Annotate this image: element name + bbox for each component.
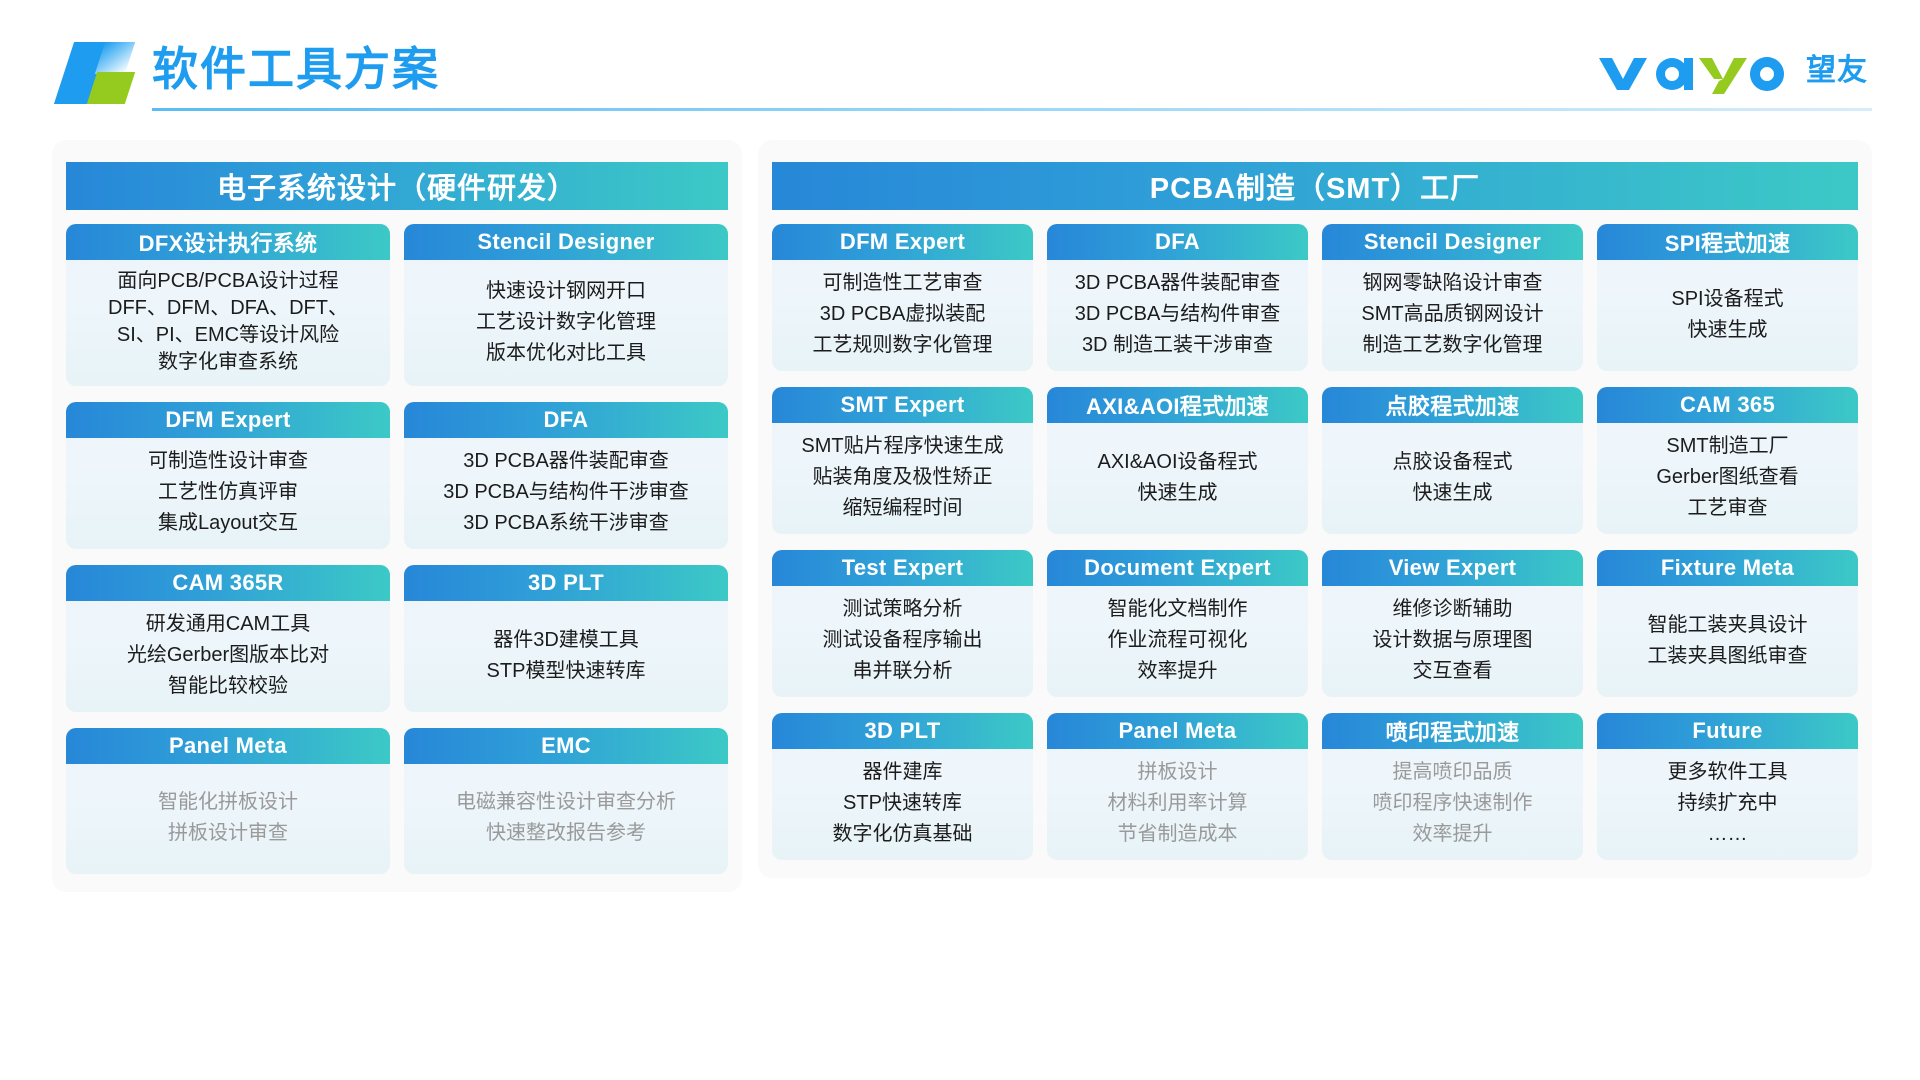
tool-card-feature-line: 贴装角度及极性矫正	[813, 462, 993, 493]
tool-card-feature-line: STP模型快速转库	[487, 656, 646, 687]
tool-card[interactable]: SMT ExpertSMT贴片程序快速生成贴装角度及极性矫正缩短编程时间	[772, 387, 1033, 534]
solution-board: 电子系统设计（硬件研发） DFX设计执行系统面向PCB/PCBA设计过程DFF、…	[0, 140, 1920, 1020]
tool-card-title: Panel Meta	[1119, 718, 1237, 744]
tool-card-feature-line: 制造工艺数字化管理	[1363, 330, 1543, 361]
tool-card-feature-line: 智能工装夹具设计	[1648, 610, 1808, 641]
tool-card-feature-line: 工艺设计数字化管理	[476, 307, 656, 338]
tool-card-feature-line: 更多软件工具	[1668, 757, 1788, 788]
tool-card-body: 面向PCB/PCBA设计过程DFF、DFM、DFA、DFT、SI、PI、EMC等…	[66, 260, 390, 386]
tool-card-feature-line: 设计数据与原理图	[1373, 625, 1533, 656]
tool-card-feature-line: 可制造性设计审查	[148, 446, 308, 477]
tool-card-body: 快速设计钢网开口工艺设计数字化管理版本优化对比工具	[404, 260, 728, 386]
tool-card-feature-line: 工装夹具图纸审查	[1648, 641, 1808, 672]
tool-card-title: DFA	[1155, 229, 1200, 255]
tool-card[interactable]: SPI程式加速SPI设备程式快速生成	[1597, 224, 1858, 371]
tool-card-title: 3D PLT	[865, 718, 941, 744]
tool-card-body: 3D PCBA器件装配审查3D PCBA与结构件审查3D 制造工装干涉审查	[1047, 260, 1308, 371]
tool-card-feature-line: 智能化文档制作	[1108, 594, 1248, 625]
tool-card-body: 提高喷印品质喷印程序快速制作效率提升	[1322, 749, 1583, 860]
tool-card-feature-line: 研发通用CAM工具	[146, 609, 310, 640]
tool-card[interactable]: EMC电磁兼容性设计审查分析快速整改报告参考	[404, 728, 728, 874]
tool-card[interactable]: CAM 365SMT制造工厂Gerber图纸查看工艺审查	[1597, 387, 1858, 534]
tool-card-feature-line: 材料利用率计算	[1108, 788, 1248, 819]
tool-card[interactable]: 3D PLT器件建库STP快速转库数字化仿真基础	[772, 713, 1033, 860]
tool-card-header: DFA	[1047, 224, 1308, 260]
tool-card-feature-line: 面向PCB/PCBA设计过程	[117, 268, 338, 295]
tool-card-header: CAM 365	[1597, 387, 1858, 423]
title-divider	[152, 108, 1872, 111]
tool-card-feature-line: 工艺审查	[1688, 493, 1768, 524]
tool-card-feature-line: 快速生成	[1688, 315, 1768, 346]
tool-card-title: 喷印程式加速	[1386, 715, 1520, 747]
tool-card-feature-line: 3D PCBA与结构件审查	[1075, 299, 1281, 330]
panel-electronic-system-design: 电子系统设计（硬件研发） DFX设计执行系统面向PCB/PCBA设计过程DFF、…	[52, 140, 742, 892]
tool-card-body: 可制造性工艺审查3D PCBA虚拟装配工艺规则数字化管理	[772, 260, 1033, 371]
tool-card-body: 点胶设备程式快速生成	[1322, 423, 1583, 534]
tool-card[interactable]: Test Expert测试策略分析测试设备程序输出串并联分析	[772, 550, 1033, 697]
tool-card-feature-line: 测试策略分析	[843, 594, 963, 625]
tool-card[interactable]: Document Expert智能化文档制作作业流程可视化效率提升	[1047, 550, 1308, 697]
tool-card-feature-line: 器件3D建模工具	[493, 625, 639, 656]
panel-right-card-grid: DFM Expert可制造性工艺审查3D PCBA虚拟装配工艺规则数字化管理DF…	[772, 224, 1858, 860]
tool-card[interactable]: Panel Meta拼板设计材料利用率计算节省制造成本	[1047, 713, 1308, 860]
tool-card-body: 测试策略分析测试设备程序输出串并联分析	[772, 586, 1033, 697]
tool-card-title: Test Expert	[842, 555, 964, 581]
tool-card-title: EMC	[541, 733, 591, 759]
tool-card-title: Panel Meta	[169, 733, 287, 759]
tool-card-header: Test Expert	[772, 550, 1033, 586]
vayo-slash-mark-icon	[58, 42, 136, 104]
tool-card-feature-line: 拼板设计审查	[168, 818, 288, 849]
tool-card-feature-line: SMT贴片程序快速生成	[801, 431, 1003, 462]
panel-pcba-smt-factory: PCBA制造（SMT）工厂 DFM Expert可制造性工艺审查3D PCBA虚…	[758, 140, 1872, 878]
tool-card-header: View Expert	[1322, 550, 1583, 586]
tool-card-title: DFM Expert	[165, 407, 290, 433]
tool-card-body: 器件3D建模工具STP模型快速转库	[404, 601, 728, 712]
tool-card[interactable]: DFX设计执行系统面向PCB/PCBA设计过程DFF、DFM、DFA、DFT、S…	[66, 224, 390, 386]
tool-card[interactable]: Future更多软件工具持续扩充中……	[1597, 713, 1858, 860]
tool-card-body: 器件建库STP快速转库数字化仿真基础	[772, 749, 1033, 860]
tool-card-feature-line: 智能比较校验	[168, 671, 288, 702]
tool-card-title: Future	[1692, 718, 1762, 744]
tool-card-feature-line: SMT高品质钢网设计	[1361, 299, 1543, 330]
tool-card-header: DFM Expert	[772, 224, 1033, 260]
tool-card-title: DFX设计执行系统	[139, 226, 318, 258]
tool-card-feature-line: 快速设计钢网开口	[486, 276, 646, 307]
tool-card-title: CAM 365R	[172, 570, 283, 596]
tool-card-feature-line: 电磁兼容性设计审查分析	[456, 787, 676, 818]
tool-card-body: 智能工装夹具设计工装夹具图纸审查	[1597, 586, 1858, 697]
tool-card-body: 电磁兼容性设计审查分析快速整改报告参考	[404, 764, 728, 874]
tool-card[interactable]: Panel Meta智能化拼板设计拼板设计审查	[66, 728, 390, 874]
tool-card[interactable]: 3D PLT器件3D建模工具STP模型快速转库	[404, 565, 728, 712]
tool-card-feature-line: 节省制造成本	[1118, 819, 1238, 850]
tool-card-header: DFA	[404, 402, 728, 438]
tool-card-title: DFM Expert	[840, 229, 965, 255]
tool-card-title: Fixture Meta	[1661, 555, 1794, 581]
tool-card-feature-line: 效率提升	[1413, 819, 1493, 850]
tool-card[interactable]: Stencil Designer钢网零缺陷设计审查SMT高品质钢网设计制造工艺数…	[1322, 224, 1583, 371]
tool-card-header: 3D PLT	[772, 713, 1033, 749]
tool-card-header: Panel Meta	[66, 728, 390, 764]
page-title: 软件工具方案	[152, 38, 440, 100]
panel-left-title: 电子系统设计（硬件研发）	[217, 165, 577, 207]
page-header: 软件工具方案 望友	[0, 0, 1920, 120]
tool-card-body: 研发通用CAM工具光绘Gerber图版本比对智能比较校验	[66, 601, 390, 712]
tool-card-feature-line: 效率提升	[1138, 656, 1218, 687]
tool-card-feature-line: 3D 制造工装干涉审查	[1082, 330, 1273, 361]
tool-card[interactable]: DFA3D PCBA器件装配审查3D PCBA与结构件审查3D 制造工装干涉审查	[1047, 224, 1308, 371]
tool-card-body: 钢网零缺陷设计审查SMT高品质钢网设计制造工艺数字化管理	[1322, 260, 1583, 371]
tool-card-header: SPI程式加速	[1597, 224, 1858, 260]
tool-card[interactable]: DFM Expert可制造性设计审查工艺性仿真评审集成Layout交互	[66, 402, 390, 549]
tool-card-feature-line: SPI设备程式	[1671, 284, 1783, 315]
tool-card-body: 可制造性设计审查工艺性仿真评审集成Layout交互	[66, 438, 390, 549]
tool-card-feature-line: 点胶设备程式	[1393, 447, 1513, 478]
tool-card-feature-line: 测试设备程序输出	[823, 625, 983, 656]
tool-card-feature-line: AXI&AOI设备程式	[1097, 447, 1257, 478]
tool-card-feature-line: 钢网零缺陷设计审查	[1363, 268, 1543, 299]
tool-card[interactable]: CAM 365R研发通用CAM工具光绘Gerber图版本比对智能比较校验	[66, 565, 390, 712]
tool-card-feature-line: 快速整改报告参考	[486, 818, 646, 849]
tool-card-body: 智能化文档制作作业流程可视化效率提升	[1047, 586, 1308, 697]
tool-card-title: SMT Expert	[840, 392, 964, 418]
tool-card-header: Document Expert	[1047, 550, 1308, 586]
tool-card-header: DFX设计执行系统	[66, 224, 390, 260]
tool-card-feature-line: 集成Layout交互	[158, 508, 298, 539]
tool-card-title: DFA	[544, 407, 589, 433]
tool-card-feature-line: DFF、DFM、DFA、DFT、	[108, 295, 348, 322]
tool-card-feature-line: Gerber图纸查看	[1656, 462, 1798, 493]
tool-card-feature-line: 快速生成	[1413, 478, 1493, 509]
tool-card-feature-line: 版本优化对比工具	[486, 338, 646, 369]
tool-card-title: Stencil Designer	[1364, 229, 1541, 255]
tool-card-feature-line: 数字化仿真基础	[833, 819, 973, 850]
panel-right-title: PCBA制造（SMT）工厂	[1150, 165, 1480, 207]
panel-left-header: 电子系统设计（硬件研发）	[66, 162, 728, 210]
tool-card-feature-line: 串并联分析	[853, 656, 953, 687]
tool-card-feature-line: 交互查看	[1413, 656, 1493, 687]
tool-card-body: SMT制造工厂Gerber图纸查看工艺审查	[1597, 423, 1858, 534]
tool-card-feature-line: 3D PCBA与结构件干涉审查	[443, 477, 689, 508]
tool-card-feature-line: SI、PI、EMC等设计风险	[117, 322, 339, 349]
tool-card-title: SPI程式加速	[1665, 226, 1791, 258]
tool-card-title: 点胶程式加速	[1386, 389, 1520, 421]
tool-card[interactable]: AXI&AOI程式加速AXI&AOI设备程式快速生成	[1047, 387, 1308, 534]
tool-card-header: SMT Expert	[772, 387, 1033, 423]
brand-chinese-name: 望友	[1806, 48, 1868, 94]
tool-card-feature-line: 工艺性仿真评审	[158, 477, 298, 508]
tool-card-header: Fixture Meta	[1597, 550, 1858, 586]
tool-card-header: AXI&AOI程式加速	[1047, 387, 1308, 423]
tool-card-feature-line: 喷印程序快速制作	[1373, 788, 1533, 819]
tool-card-feature-line: 快速生成	[1138, 478, 1218, 509]
tool-card-header: Future	[1597, 713, 1858, 749]
tool-card[interactable]: DFA3D PCBA器件装配审查3D PCBA与结构件干涉审查3D PCBA系统…	[404, 402, 728, 549]
tool-card-title: Document Expert	[1084, 555, 1271, 581]
tool-card[interactable]: Stencil Designer快速设计钢网开口工艺设计数字化管理版本优化对比工…	[404, 224, 728, 386]
panel-right-header: PCBA制造（SMT）工厂	[772, 162, 1858, 210]
tool-card-feature-line: 提高喷印品质	[1393, 757, 1513, 788]
tool-card-body: SPI设备程式快速生成	[1597, 260, 1858, 371]
tool-card-header: 3D PLT	[404, 565, 728, 601]
tool-card-body: 拼板设计材料利用率计算节省制造成本	[1047, 749, 1308, 860]
tool-card-header: Stencil Designer	[404, 224, 728, 260]
tool-card-header: EMC	[404, 728, 728, 764]
tool-card-feature-line: SMT制造工厂	[1666, 431, 1788, 462]
tool-card-feature-line: 3D PCBA系统干涉审查	[463, 508, 669, 539]
tool-card-title: Stencil Designer	[477, 229, 654, 255]
tool-card-header: Panel Meta	[1047, 713, 1308, 749]
vayo-wordmark-icon	[1595, 48, 1800, 94]
tool-card-feature-line: 3D PCBA虚拟装配	[820, 299, 986, 330]
tool-card-header: 喷印程式加速	[1322, 713, 1583, 749]
panel-left-card-grid: DFX设计执行系统面向PCB/PCBA设计过程DFF、DFM、DFA、DFT、S…	[66, 224, 728, 874]
tool-card-feature-line: 器件建库	[863, 757, 943, 788]
tool-card[interactable]: View Expert维修诊断辅助设计数据与原理图交互查看	[1322, 550, 1583, 697]
tool-card-body: SMT贴片程序快速生成贴装角度及极性矫正缩短编程时间	[772, 423, 1033, 534]
tool-card-feature-line: 作业流程可视化	[1108, 625, 1248, 656]
tool-card-feature-line: ……	[1708, 819, 1748, 850]
tool-card-feature-line: 可制造性工艺审查	[823, 268, 983, 299]
tool-card-feature-line: 缩短编程时间	[843, 493, 963, 524]
tool-card-header: 点胶程式加速	[1322, 387, 1583, 423]
tool-card-feature-line: STP快速转库	[843, 788, 962, 819]
tool-card-body: 维修诊断辅助设计数据与原理图交互查看	[1322, 586, 1583, 697]
tool-card-feature-line: 数字化审查系统	[158, 349, 298, 376]
tool-card-feature-line: 工艺规则数字化管理	[813, 330, 993, 361]
tool-card[interactable]: 喷印程式加速提高喷印品质喷印程序快速制作效率提升	[1322, 713, 1583, 860]
tool-card-title: AXI&AOI程式加速	[1086, 389, 1269, 421]
tool-card[interactable]: 点胶程式加速点胶设备程式快速生成	[1322, 387, 1583, 534]
tool-card-feature-line: 光绘Gerber图版本比对	[127, 640, 329, 671]
tool-card-feature-line: 拼板设计	[1138, 757, 1218, 788]
tool-card-header: CAM 365R	[66, 565, 390, 601]
tool-card-title: CAM 365	[1680, 392, 1775, 418]
tool-card-body: AXI&AOI设备程式快速生成	[1047, 423, 1308, 534]
tool-card-body: 更多软件工具持续扩充中……	[1597, 749, 1858, 860]
tool-card-body: 3D PCBA器件装配审查3D PCBA与结构件干涉审查3D PCBA系统干涉审…	[404, 438, 728, 549]
tool-card-feature-line: 持续扩充中	[1678, 788, 1778, 819]
tool-card-feature-line: 智能化拼板设计	[158, 787, 298, 818]
tool-card[interactable]: Fixture Meta智能工装夹具设计工装夹具图纸审查	[1597, 550, 1858, 697]
tool-card-feature-line: 3D PCBA器件装配审查	[1075, 268, 1281, 299]
tool-card-feature-line: 维修诊断辅助	[1393, 594, 1513, 625]
tool-card-header: Stencil Designer	[1322, 224, 1583, 260]
tool-card-title: View Expert	[1389, 555, 1517, 581]
tool-card-body: 智能化拼板设计拼板设计审查	[66, 764, 390, 874]
tool-card-title: 3D PLT	[528, 570, 604, 596]
tool-card-header: DFM Expert	[66, 402, 390, 438]
tool-card-feature-line: 3D PCBA器件装配审查	[463, 446, 669, 477]
tool-card[interactable]: DFM Expert可制造性工艺审查3D PCBA虚拟装配工艺规则数字化管理	[772, 224, 1033, 371]
brand-logo: 望友	[1595, 48, 1868, 94]
